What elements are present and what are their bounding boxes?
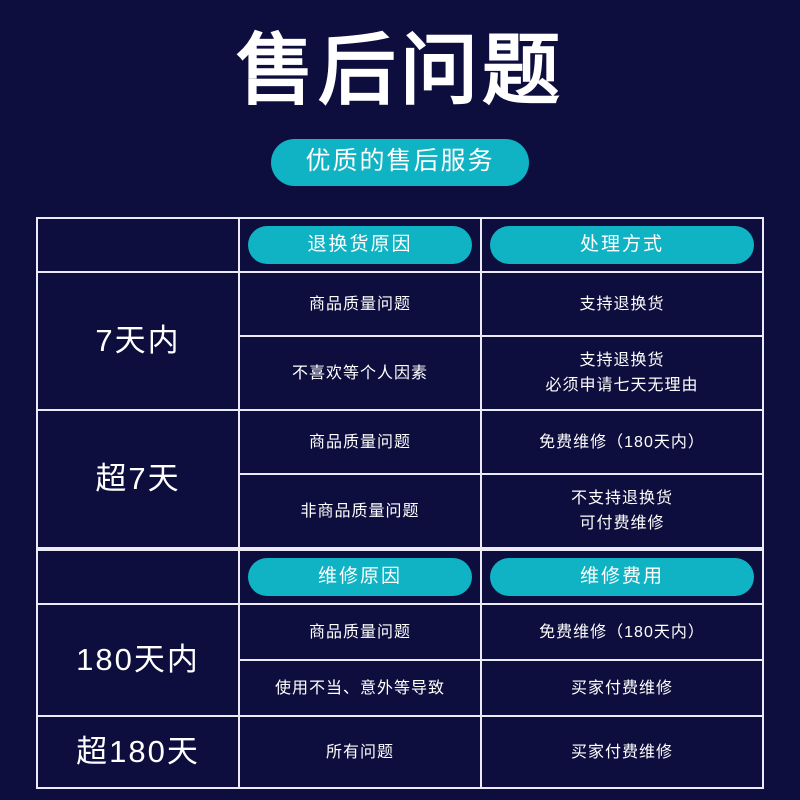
header-cell-repair-reason: 维修原因: [239, 550, 481, 604]
action-cell: 支持退换货: [481, 272, 763, 336]
fee-cell: 买家付费维修: [481, 716, 763, 788]
header-pill-action: 处理方式: [490, 226, 754, 264]
header-cell-blank: [37, 550, 239, 604]
repair-policy-table: 维修原因 维修费用 180天内 商品质量问题 免费维修（180天内） 使用不当、…: [36, 549, 764, 789]
header-pill-repair-reason: 维修原因: [248, 558, 472, 596]
action-cell: 不支持退换货 可付费维修: [481, 474, 763, 548]
table-row: 180天内 商品质量问题 免费维修（180天内）: [37, 604, 763, 660]
action-line: 不支持退换货: [482, 486, 762, 511]
period-label: 超7天: [95, 461, 180, 496]
table-header-row: 维修原因 维修费用: [37, 550, 763, 604]
reason-cell: 非商品质量问题: [239, 474, 481, 548]
fee-cell: 买家付费维修: [481, 660, 763, 716]
reason-cell: 不喜欢等个人因素: [239, 336, 481, 410]
header-cell-blank: [37, 218, 239, 272]
action-text: 支持退换货 必须申请七天无理由: [482, 348, 762, 398]
page-title: 售后问题: [0, 22, 800, 118]
after-sales-infographic: { "theme": { "background": "#0d0e3d", "a…: [0, 0, 800, 800]
table-header-row: 退换货原因 处理方式: [37, 218, 763, 272]
reason-cell: 所有问题: [239, 716, 481, 788]
subtitle-container: 优质的售后服务: [0, 139, 800, 186]
fee-text: 买家付费维修: [571, 680, 673, 697]
reason-text: 非商品质量问题: [300, 503, 419, 520]
action-line: 必须申请七天无理由: [482, 373, 762, 398]
reason-cell: 商品质量问题: [239, 272, 481, 336]
fee-cell: 免费维修（180天内）: [481, 604, 763, 660]
fee-text: 买家付费维修: [571, 744, 673, 761]
action-line: 支持退换货: [482, 348, 762, 373]
header-pill-repair-fee: 维修费用: [490, 558, 754, 596]
header-cell-reason: 退换货原因: [239, 218, 481, 272]
action-line: 免费维修（180天内）: [482, 430, 762, 455]
reason-text: 商品质量问题: [309, 624, 411, 641]
action-cell: 支持退换货 必须申请七天无理由: [481, 336, 763, 410]
header-cell-action: 处理方式: [481, 218, 763, 272]
table-row: 超180天 所有问题 买家付费维修: [37, 716, 763, 788]
period-cell-over7days: 超7天: [37, 410, 239, 548]
period-cell-180days: 180天内: [37, 604, 239, 716]
action-text: 不支持退换货 可付费维修: [482, 486, 762, 536]
action-text: 支持退换货: [482, 292, 762, 317]
reason-text: 商品质量问题: [309, 296, 411, 313]
period-label: 180天内: [76, 642, 200, 677]
reason-text: 使用不当、意外等导致: [275, 680, 445, 697]
returns-policy-table: 退换货原因 处理方式 7天内 商品质量问题 支持退换货 不喜欢等个人因素: [36, 217, 764, 549]
period-cell-7days: 7天内: [37, 272, 239, 410]
subtitle-badge: 优质的售后服务: [271, 139, 528, 186]
table-row: 超7天 商品质量问题 免费维修（180天内）: [37, 410, 763, 474]
header-pill-reason: 退换货原因: [248, 226, 472, 264]
reason-cell: 使用不当、意外等导致: [239, 660, 481, 716]
period-cell-over180days: 超180天: [37, 716, 239, 788]
reason-cell: 商品质量问题: [239, 410, 481, 474]
period-label: 7天内: [95, 323, 180, 358]
fee-text: 免费维修（180天内）: [539, 624, 705, 641]
reason-text: 不喜欢等个人因素: [292, 365, 428, 382]
reason-text: 所有问题: [326, 744, 394, 761]
action-text: 免费维修（180天内）: [482, 430, 762, 455]
action-cell: 免费维修（180天内）: [481, 410, 763, 474]
reason-cell: 商品质量问题: [239, 604, 481, 660]
header-cell-repair-fee: 维修费用: [481, 550, 763, 604]
table-row: 7天内 商品质量问题 支持退换货: [37, 272, 763, 336]
reason-text: 商品质量问题: [309, 434, 411, 451]
action-line: 支持退换货: [482, 292, 762, 317]
period-label: 超180天: [76, 734, 200, 769]
action-line: 可付费维修: [482, 511, 762, 536]
